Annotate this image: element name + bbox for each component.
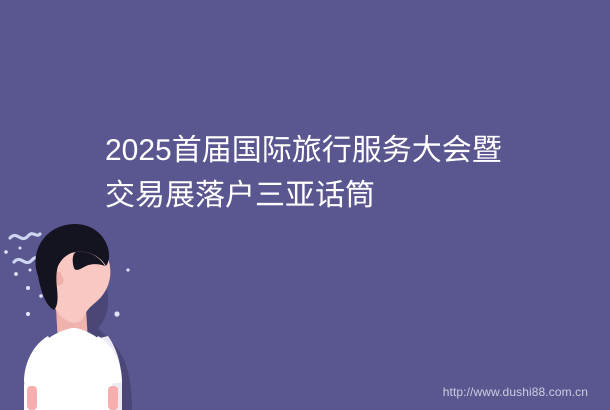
source-url-watermark: http://www.dushi88.com.cn	[443, 385, 588, 399]
page-title: 2025首届国际旅行服务大会暨 交易展落户三亚话筒	[105, 128, 545, 218]
person-looking-up-illustration	[0, 210, 200, 410]
poster-canvas: 2025首届国际旅行服务大会暨 交易展落户三亚话筒 http://www.dus…	[0, 0, 610, 410]
